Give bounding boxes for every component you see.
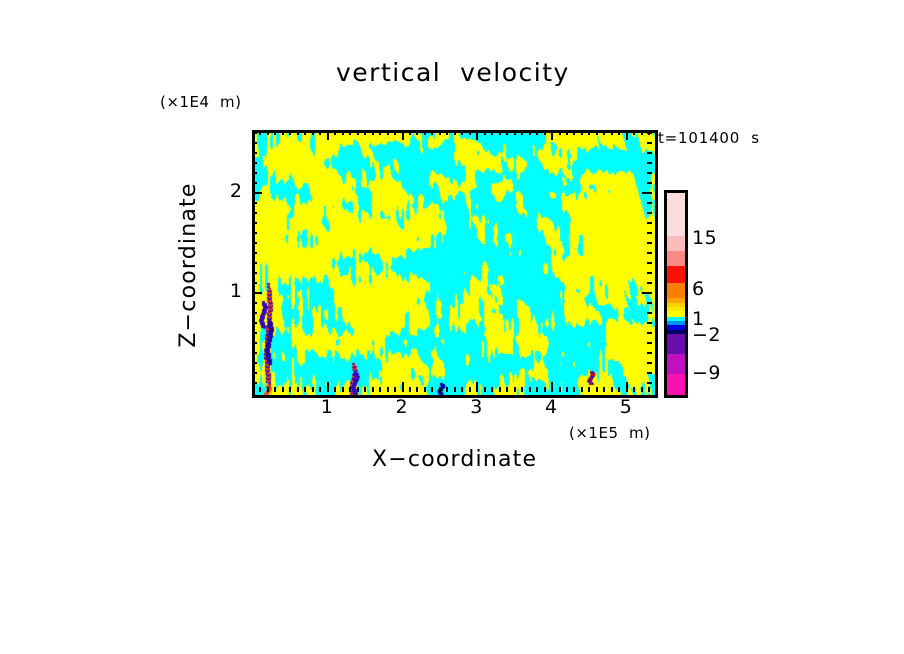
tick-mark — [252, 362, 257, 364]
tick-mark — [491, 130, 493, 135]
tick-mark — [402, 130, 404, 140]
tick-mark — [647, 252, 652, 254]
tick-mark — [252, 182, 257, 184]
tick-mark — [647, 202, 652, 204]
tick-mark — [647, 212, 652, 214]
tick-mark — [446, 130, 448, 135]
tick-mark — [439, 130, 441, 135]
tick-mark — [446, 387, 448, 392]
tick-mark — [334, 387, 336, 392]
contour-field — [255, 133, 655, 395]
tick-mark — [559, 130, 561, 135]
tick-mark — [304, 130, 306, 135]
y-axis-title: Z−coordinate — [176, 165, 201, 365]
tick-mark — [514, 387, 516, 392]
tick-mark — [304, 387, 306, 392]
tick-mark — [282, 387, 284, 392]
x-tick-label: 3 — [461, 396, 491, 418]
tick-mark — [357, 130, 359, 135]
figure-canvas: vertical velocity (×1E4 m) t=101400 s Z−… — [0, 0, 904, 654]
tick-mark — [551, 130, 553, 140]
x-tick-label: 1 — [312, 396, 342, 418]
plot-area — [252, 130, 658, 398]
tick-mark — [536, 387, 538, 392]
tick-mark — [491, 387, 493, 392]
tick-mark — [454, 387, 456, 392]
tick-mark — [252, 142, 257, 144]
tick-mark — [469, 130, 471, 135]
tick-mark — [364, 387, 366, 392]
tick-mark — [267, 130, 269, 135]
tick-mark — [588, 130, 590, 135]
tick-mark — [647, 302, 652, 304]
tick-mark — [469, 387, 471, 392]
tick-mark — [424, 130, 426, 135]
tick-mark — [581, 387, 583, 392]
tick-mark — [647, 142, 652, 144]
tick-mark — [402, 382, 404, 392]
tick-mark — [647, 382, 652, 384]
tick-mark — [431, 387, 433, 392]
tick-mark — [551, 382, 553, 392]
tick-mark — [642, 292, 652, 294]
colorbar-band — [667, 334, 685, 354]
tick-mark — [514, 130, 516, 135]
tick-mark — [603, 130, 605, 135]
tick-mark — [252, 172, 257, 174]
x-axis-title: X−coordinate — [372, 447, 537, 472]
tick-mark — [642, 192, 652, 194]
tick-mark — [342, 387, 344, 392]
tick-mark — [461, 130, 463, 135]
tick-mark — [626, 382, 628, 392]
tick-mark — [424, 387, 426, 392]
tick-mark — [252, 342, 257, 344]
tick-mark — [581, 130, 583, 135]
tick-mark — [603, 387, 605, 392]
tick-mark — [409, 130, 411, 135]
tick-mark — [297, 130, 299, 135]
tick-mark — [289, 130, 291, 135]
colorbar-tick-label: −9 — [692, 362, 721, 384]
tick-mark — [454, 130, 456, 135]
y-axis-unit-label: (×1E4 m) — [160, 93, 242, 111]
tick-mark — [252, 282, 257, 284]
tick-mark — [319, 387, 321, 392]
tick-mark — [364, 130, 366, 135]
tick-mark — [252, 302, 257, 304]
colorbar-tick-label: 6 — [692, 278, 705, 300]
tick-mark — [647, 272, 652, 274]
tick-mark — [252, 292, 262, 294]
tick-mark — [529, 130, 531, 135]
tick-mark — [282, 130, 284, 135]
tick-mark — [252, 132, 257, 134]
tick-mark — [641, 130, 643, 135]
tick-mark — [252, 382, 257, 384]
y-tick-label: 1 — [222, 280, 242, 302]
tick-mark — [289, 387, 291, 392]
tick-mark — [252, 212, 257, 214]
tick-mark — [252, 352, 257, 354]
tick-mark — [566, 387, 568, 392]
tick-mark — [641, 387, 643, 392]
colorbar-band — [667, 354, 685, 374]
tick-mark — [647, 162, 652, 164]
tick-mark — [647, 372, 652, 374]
tick-mark — [252, 322, 257, 324]
tick-mark — [357, 387, 359, 392]
tick-mark — [647, 332, 652, 334]
tick-mark — [647, 172, 652, 174]
x-axis-unit-label: (×1E5 m) — [569, 424, 651, 442]
tick-mark — [588, 387, 590, 392]
tick-mark — [596, 130, 598, 135]
tick-mark — [544, 130, 546, 135]
tick-mark — [647, 132, 652, 134]
tick-mark — [334, 130, 336, 135]
tick-mark — [252, 202, 257, 204]
tick-mark — [252, 332, 257, 334]
tick-mark — [521, 387, 523, 392]
tick-mark — [521, 130, 523, 135]
time-annotation: t=101400 s — [658, 129, 760, 147]
tick-mark — [506, 130, 508, 135]
tick-mark — [387, 387, 389, 392]
tick-mark — [252, 162, 257, 164]
tick-mark — [297, 387, 299, 392]
tick-mark — [394, 130, 396, 135]
x-tick-label: 2 — [387, 396, 417, 418]
tick-mark — [259, 130, 261, 135]
tick-mark — [252, 252, 257, 254]
tick-mark — [647, 182, 652, 184]
tick-mark — [499, 130, 501, 135]
tick-mark — [416, 130, 418, 135]
colorbar-band — [667, 251, 685, 266]
tick-mark — [274, 387, 276, 392]
tick-mark — [618, 130, 620, 135]
tick-mark — [252, 152, 257, 154]
x-tick-label: 4 — [536, 396, 566, 418]
colorbar-band — [667, 193, 685, 236]
tick-mark — [633, 130, 635, 135]
tick-mark — [647, 312, 652, 314]
tick-mark — [647, 152, 652, 154]
tick-mark — [327, 130, 329, 140]
tick-mark — [416, 387, 418, 392]
tick-mark — [372, 130, 374, 135]
tick-mark — [559, 387, 561, 392]
tick-mark — [312, 387, 314, 392]
tick-mark — [476, 382, 478, 392]
tick-mark — [647, 242, 652, 244]
tick-mark — [431, 130, 433, 135]
tick-mark — [409, 387, 411, 392]
colorbar-band — [667, 266, 685, 283]
y-tick-label: 2 — [222, 180, 242, 202]
tick-mark — [573, 130, 575, 135]
tick-mark — [379, 130, 381, 135]
colorbar-band — [667, 374, 685, 394]
tick-mark — [267, 387, 269, 392]
tick-mark — [342, 130, 344, 135]
tick-mark — [327, 382, 329, 392]
tick-mark — [647, 352, 652, 354]
tick-mark — [618, 387, 620, 392]
tick-mark — [439, 387, 441, 392]
tick-mark — [461, 387, 463, 392]
tick-mark — [648, 387, 650, 392]
tick-mark — [476, 130, 478, 140]
tick-mark — [633, 387, 635, 392]
tick-mark — [484, 387, 486, 392]
tick-mark — [566, 130, 568, 135]
tick-mark — [312, 130, 314, 135]
tick-mark — [647, 342, 652, 344]
tick-mark — [259, 387, 261, 392]
tick-mark — [252, 312, 257, 314]
page-title: vertical velocity — [336, 58, 570, 87]
tick-mark — [506, 387, 508, 392]
tick-mark — [387, 130, 389, 135]
colorbar-tick-label: 15 — [692, 227, 717, 249]
tick-mark — [252, 372, 257, 374]
colorbar-tick-label: −2 — [692, 324, 721, 346]
tick-mark — [626, 130, 628, 140]
colorbar-band — [667, 236, 685, 251]
tick-mark — [319, 130, 321, 135]
tick-mark — [252, 192, 262, 194]
tick-mark — [252, 222, 257, 224]
tick-mark — [647, 262, 652, 264]
tick-mark — [647, 232, 652, 234]
tick-mark — [596, 387, 598, 392]
tick-mark — [573, 387, 575, 392]
tick-mark — [544, 387, 546, 392]
tick-mark — [647, 322, 652, 324]
tick-mark — [252, 232, 257, 234]
colorbar — [664, 190, 688, 398]
tick-mark — [252, 262, 257, 264]
tick-mark — [252, 242, 257, 244]
tick-mark — [647, 222, 652, 224]
tick-mark — [252, 272, 257, 274]
tick-mark — [372, 387, 374, 392]
tick-mark — [349, 130, 351, 135]
colorbar-band — [667, 283, 685, 298]
tick-mark — [647, 282, 652, 284]
tick-mark — [349, 387, 351, 392]
tick-mark — [611, 130, 613, 135]
tick-mark — [379, 387, 381, 392]
tick-mark — [484, 130, 486, 135]
tick-mark — [274, 130, 276, 135]
tick-mark — [647, 362, 652, 364]
tick-mark — [529, 387, 531, 392]
tick-mark — [611, 387, 613, 392]
x-tick-label: 5 — [611, 396, 641, 418]
tick-mark — [536, 130, 538, 135]
tick-mark — [394, 387, 396, 392]
tick-mark — [499, 387, 501, 392]
